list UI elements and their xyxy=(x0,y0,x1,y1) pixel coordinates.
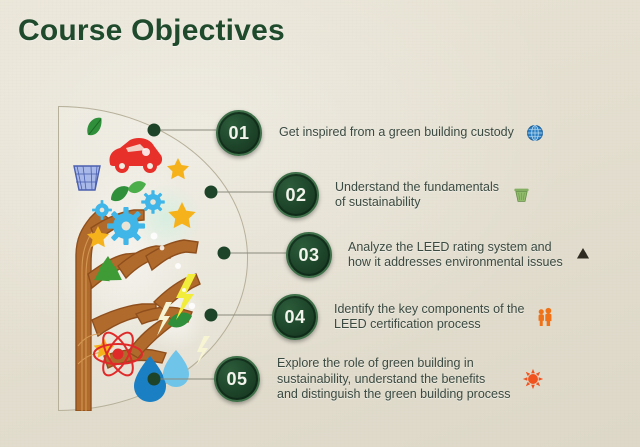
objective-item-4[interactable]: 04 Identify the key components of the LE… xyxy=(272,294,554,340)
leaf-icon xyxy=(83,116,107,138)
objective-item-5[interactable]: 05 Explore the role of green building in… xyxy=(214,356,545,403)
objective-number-badge-1: 01 xyxy=(216,110,262,156)
objective-number-badge-5: 05 xyxy=(214,356,260,402)
recycle-icon xyxy=(575,247,591,263)
sun-icon xyxy=(521,367,545,391)
objective-text-1: Get inspired from a green building custo… xyxy=(279,125,514,141)
slide-background: Course Objectives xyxy=(0,0,640,447)
objective-text-3: Analyze the LEED rating system and how i… xyxy=(348,240,563,271)
objective-text-2: Understand the fundamentals of sustainab… xyxy=(335,180,499,211)
objective-item-2[interactable]: 02 Understand the fundamentals of sustai… xyxy=(273,172,530,218)
objective-number-badge-3: 03 xyxy=(286,232,332,278)
objective-number-badge-2: 02 xyxy=(273,172,319,218)
objective-text-5: Explore the role of green building in su… xyxy=(277,356,511,403)
objective-item-3[interactable]: 03 Analyze the LEED rating system and ho… xyxy=(286,232,591,278)
globe-icon xyxy=(526,124,544,142)
objective-item-1[interactable]: 01 Get inspired from a green building cu… xyxy=(216,110,544,156)
people-icon xyxy=(536,307,554,327)
blue-basket-icon xyxy=(74,166,100,190)
objective-number-badge-4: 04 xyxy=(272,294,318,340)
page-title: Course Objectives xyxy=(18,14,285,48)
objective-text-4: Identify the key components of the LEED … xyxy=(334,302,524,333)
waste-basket-icon xyxy=(513,186,530,204)
